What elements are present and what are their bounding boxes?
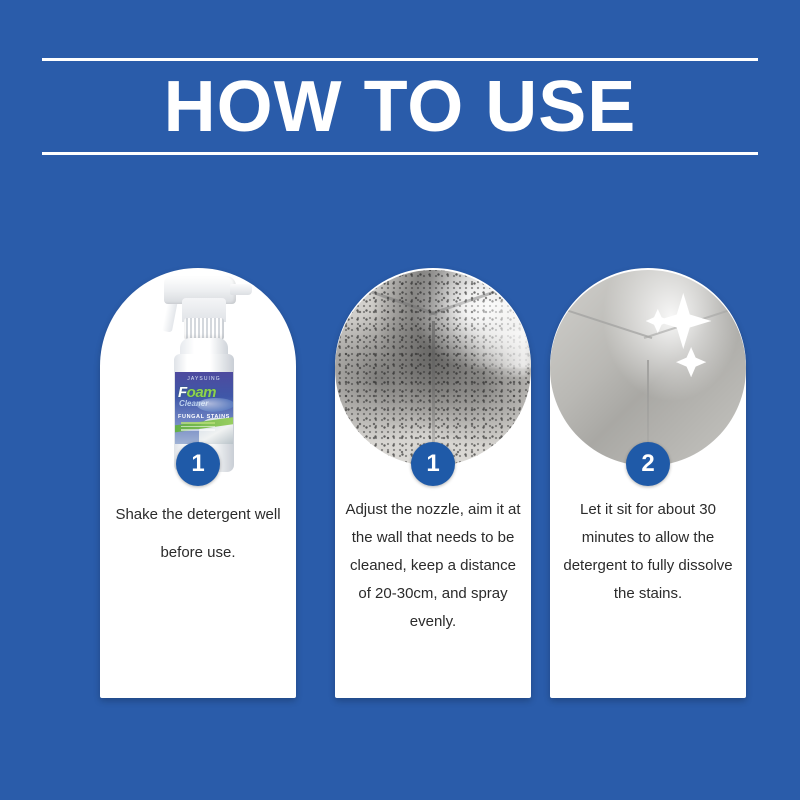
header-top-rule bbox=[42, 58, 758, 61]
corner-seam-left bbox=[558, 306, 652, 338]
bottle-nozzle bbox=[230, 284, 252, 295]
label-brand: JAYSUING bbox=[175, 376, 233, 382]
header-banner: HOW TO USE bbox=[0, 0, 800, 200]
bottle-label: JAYSUING Foam Cleaner FUNGAL STAINS bbox=[175, 372, 233, 444]
step-card-3[interactable]: 2 Let it sit for about 30 minutes to all… bbox=[550, 268, 746, 698]
step-3-caption: Let it sit for about 30 minutes to allow… bbox=[558, 496, 738, 608]
label-swoosh-graphic bbox=[197, 398, 233, 412]
step-card-1[interactable]: JAYSUING Foam Cleaner FUNGAL STAINS 1 Sh… bbox=[100, 268, 296, 698]
clean-corner-icon bbox=[550, 270, 746, 466]
header-bottom-rule bbox=[42, 152, 758, 155]
page-title: HOW TO USE bbox=[0, 64, 800, 150]
step-card-2[interactable]: 1 Adjust the nozzle, aim it at the wall … bbox=[335, 268, 531, 698]
spray-mist-secondary bbox=[449, 329, 527, 376]
moldy-wall-corner-icon bbox=[335, 270, 531, 466]
steps-row: JAYSUING Foam Cleaner FUNGAL STAINS 1 Sh… bbox=[0, 268, 800, 700]
step-2-caption: Adjust the nozzle, aim it at the wall th… bbox=[343, 496, 523, 636]
step-1-badge: 1 bbox=[176, 442, 220, 486]
label-bullet-lines bbox=[181, 422, 215, 433]
bottle-collar bbox=[184, 318, 224, 340]
step-2-badge: 1 bbox=[411, 442, 455, 486]
step-1-caption: Shake the detergent well before use. bbox=[108, 496, 288, 572]
step-3-badge: 2 bbox=[626, 442, 670, 486]
label-usage-text: FUNGAL STAINS bbox=[175, 414, 233, 420]
